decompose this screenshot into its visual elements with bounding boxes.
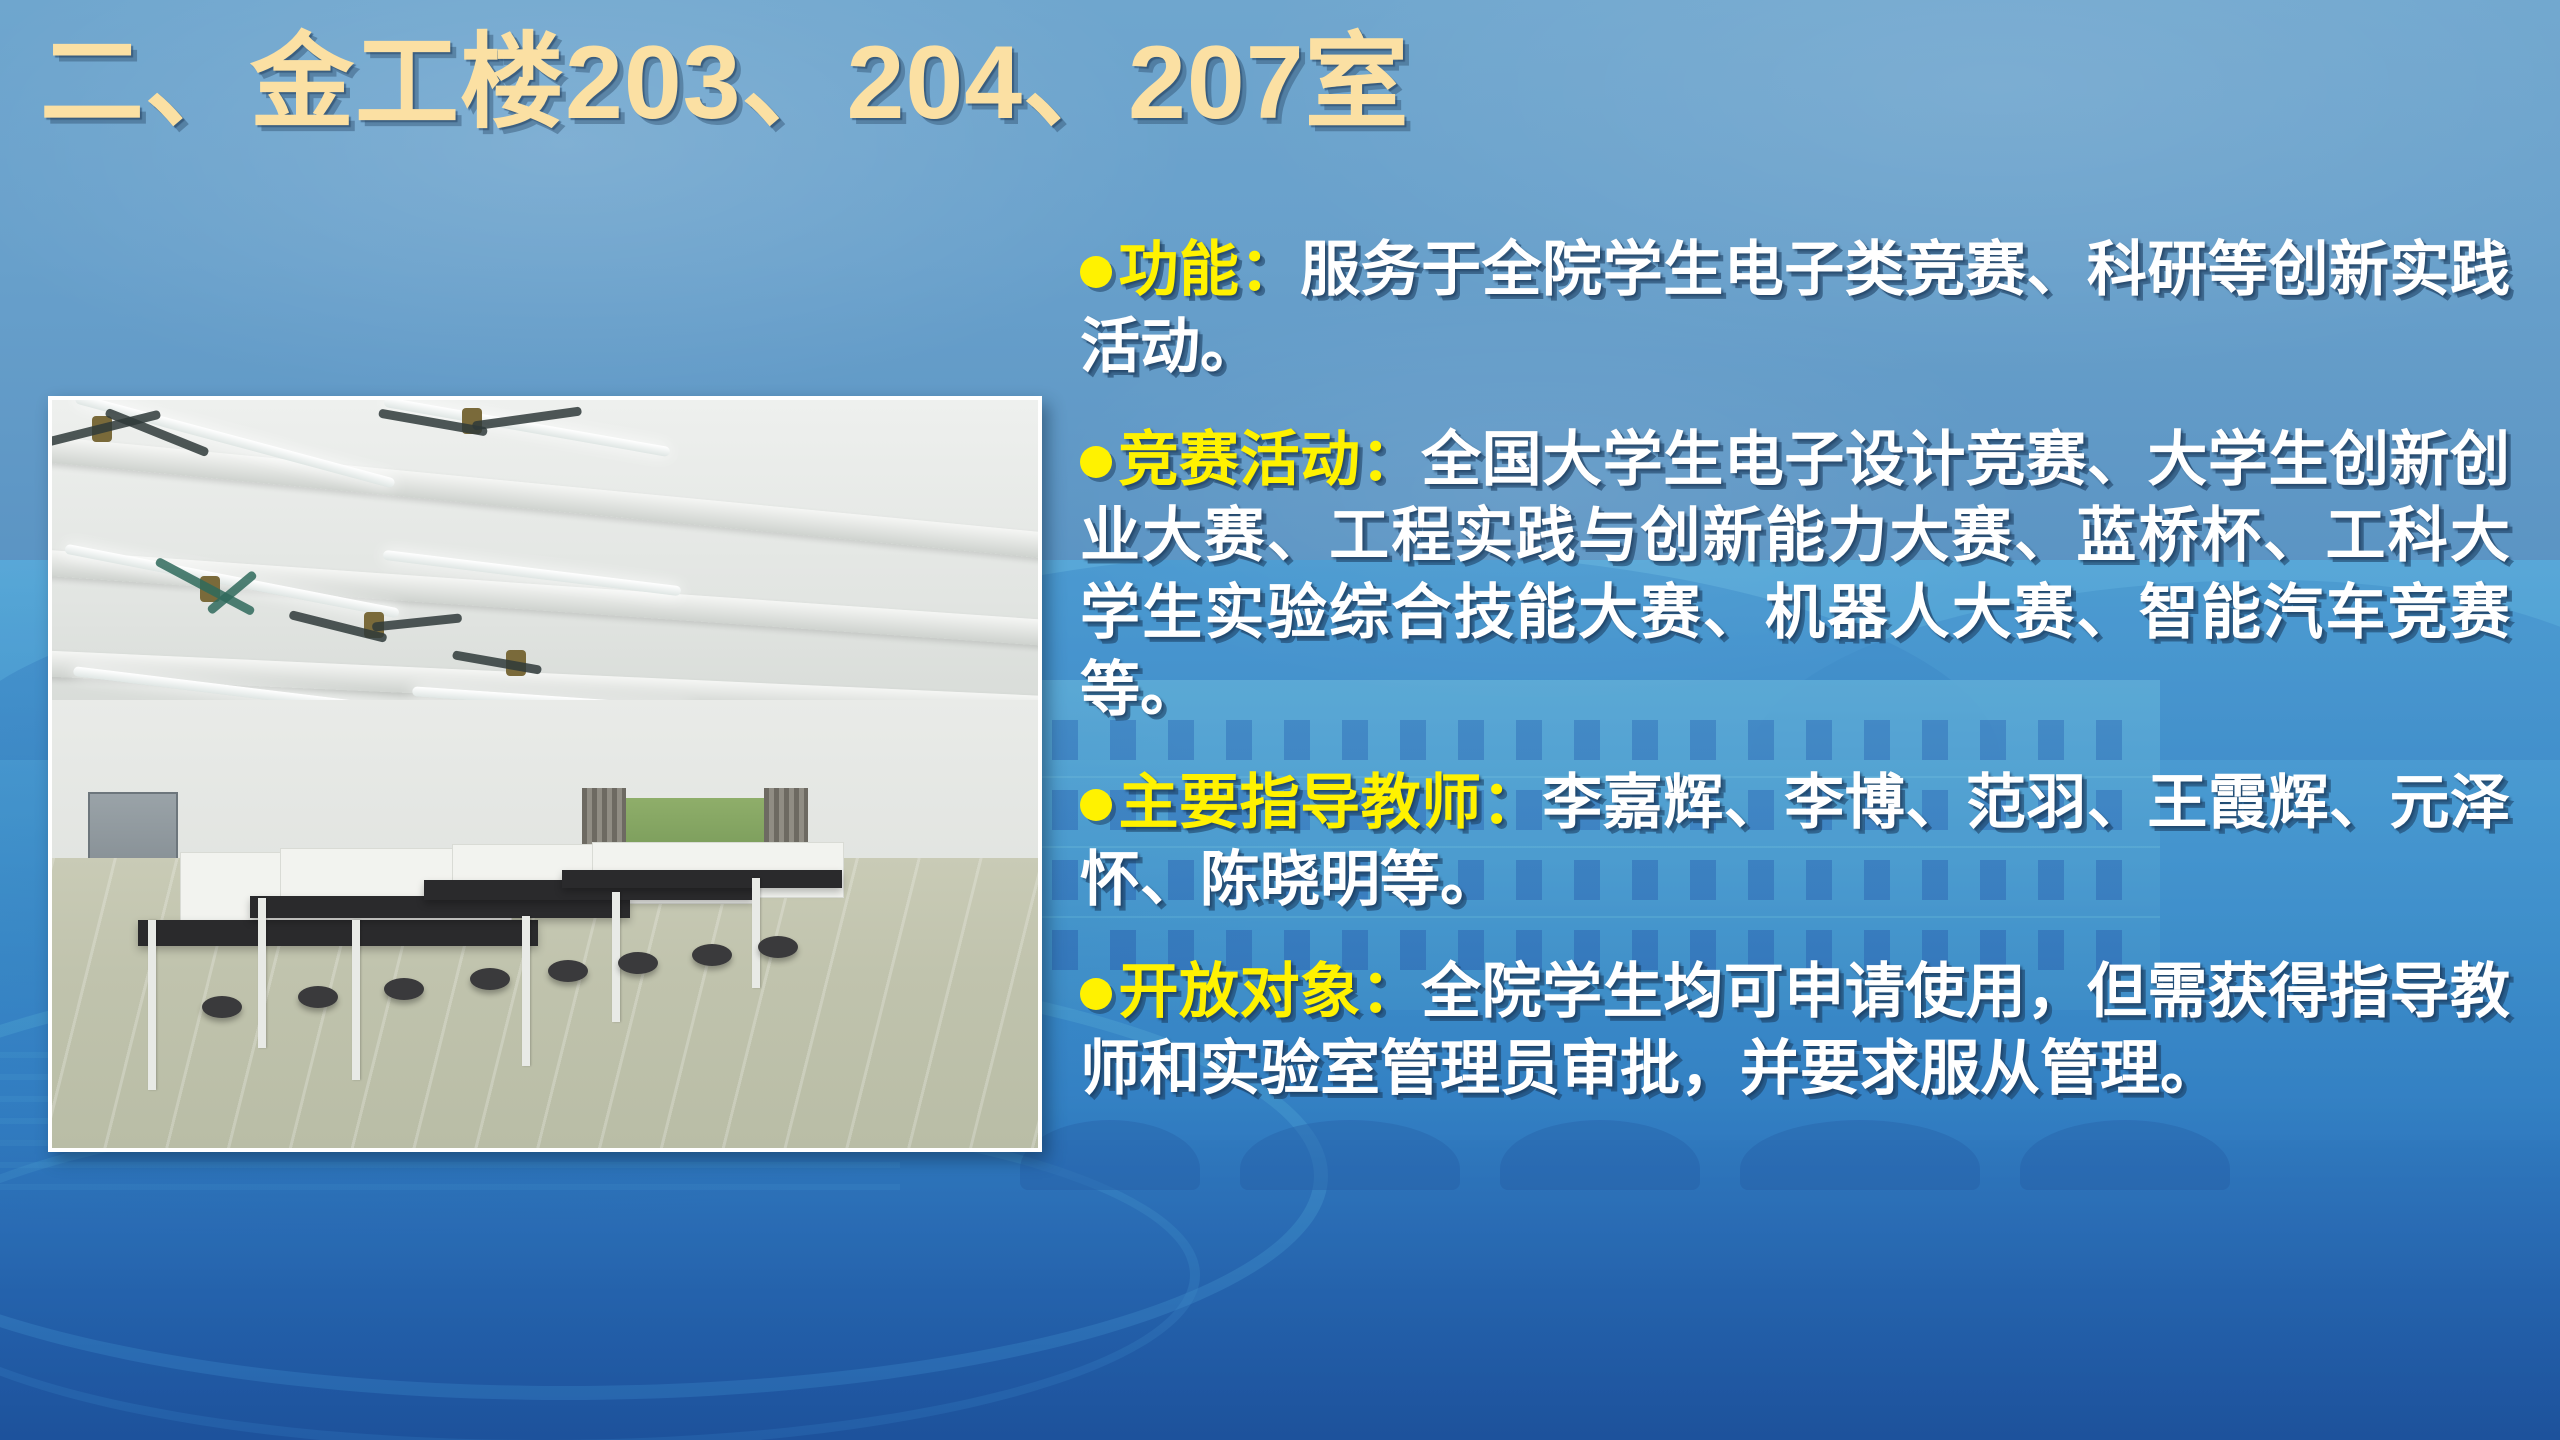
- slide-title: 二、金工楼203、204、207室: [40, 24, 1410, 144]
- bullet-label-open-to: 开放对象：: [1118, 958, 1421, 1025]
- bullet-label-function: 功能：: [1118, 236, 1300, 303]
- bullet-item-function: 功能：服务于全院学生电子类竞赛、科研等创新实践活动。: [1080, 232, 2510, 386]
- filled-circle-bullet-icon: [1080, 446, 1112, 478]
- presentation-slide: 二、金工楼203、204、207室: [0, 0, 2560, 1440]
- filled-circle-bullet-icon: [1080, 789, 1112, 821]
- bullet-item-competitions: 竞赛活动：全国大学生电子设计竞赛、大学生创新创业大赛、工程实践与创新能力大赛、蓝…: [1080, 422, 2510, 729]
- bullet-item-open-to: 开放对象：全院学生均可申请使用，但需获得指导教师和实验室管理员审批，并要求服从管…: [1080, 954, 2510, 1108]
- bullet-label-competitions: 竞赛活动：: [1118, 426, 1421, 493]
- filled-circle-bullet-icon: [1080, 256, 1112, 288]
- bullet-list: 功能：服务于全院学生电子类竞赛、科研等创新实践活动。 竞赛活动：全国大学生电子设…: [1080, 232, 2510, 1144]
- lab-room-photo: [48, 396, 1042, 1152]
- bullet-label-instructors: 主要指导教师：: [1118, 769, 1542, 836]
- bullet-item-instructors: 主要指导教师：李嘉辉、李博、范羽、王霞辉、元泽怀、陈晓明等。: [1080, 765, 2510, 919]
- filled-circle-bullet-icon: [1080, 978, 1112, 1010]
